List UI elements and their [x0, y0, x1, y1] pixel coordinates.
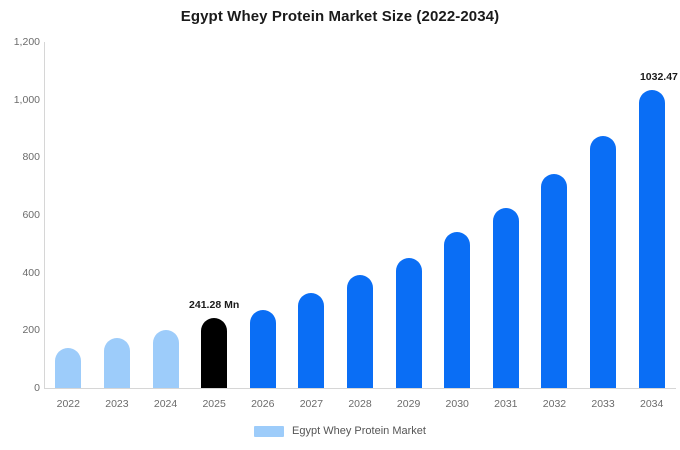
x-axis-tick-label: 2033: [591, 398, 614, 410]
x-axis-tick-labels: 2022202320242025202620272028202920302031…: [44, 398, 676, 416]
y-axis-tick-label: 0: [0, 382, 40, 394]
bar-slot: [287, 42, 336, 388]
x-axis-tick-label: 2029: [397, 398, 420, 410]
bar-2032[interactable]: [541, 174, 567, 388]
x-axis-tick-label: 2022: [57, 398, 80, 410]
bar-2027[interactable]: [298, 293, 324, 388]
bar-slot: [433, 42, 482, 388]
bar-slot: 1032.47 Mn: [627, 42, 676, 388]
y-axis-tick-label: 1,000: [0, 94, 40, 106]
bar-2033[interactable]: [590, 136, 616, 388]
legend-label: Egypt Whey Protein Market: [292, 425, 426, 437]
x-axis-tick-label: 2032: [543, 398, 566, 410]
bar-slot: [530, 42, 579, 388]
bar-2030[interactable]: [444, 232, 470, 388]
chart-legend: Egypt Whey Protein Market: [0, 425, 680, 437]
y-axis-tick-labels: 02004006008001,0001,200: [0, 0, 40, 450]
x-axis-tick-label: 2027: [300, 398, 323, 410]
bar-slot: [482, 42, 531, 388]
bar-2026[interactable]: [250, 310, 276, 388]
y-axis-tick-label: 1,200: [0, 36, 40, 48]
x-axis-tick-label: 2028: [348, 398, 371, 410]
x-axis-tick-label: 2023: [105, 398, 128, 410]
y-axis-tick-label: 400: [0, 267, 40, 279]
bar-slot: [384, 42, 433, 388]
legend-swatch-icon: [254, 426, 284, 437]
x-axis-tick-label: 2024: [154, 398, 177, 410]
bar-slot: [93, 42, 142, 388]
x-axis-tick-label: 2030: [446, 398, 469, 410]
bar-value-label-2025: 241.28 Mn: [189, 299, 239, 311]
bar-2024[interactable]: [153, 330, 179, 388]
x-axis-line: [44, 388, 676, 389]
bar-slot: [44, 42, 93, 388]
bar-2031[interactable]: [493, 208, 519, 388]
x-axis-tick-label: 2034: [640, 398, 663, 410]
bar-slot: [579, 42, 628, 388]
bar-2034[interactable]: [639, 90, 665, 388]
y-axis-tick-label: 600: [0, 209, 40, 221]
chart-title: Egypt Whey Protein Market Size (2022-203…: [0, 8, 680, 25]
y-axis-tick-label: 800: [0, 151, 40, 163]
x-axis-tick-label: 2031: [494, 398, 517, 410]
y-axis-tick-label: 200: [0, 324, 40, 336]
bar-2023[interactable]: [104, 338, 130, 388]
bar-slot: [141, 42, 190, 388]
bar-slot: [336, 42, 385, 388]
chart-container: Egypt Whey Protein Market Size (2022-203…: [0, 0, 680, 450]
bar-2025[interactable]: [201, 318, 227, 388]
bar-slot: 241.28 Mn: [190, 42, 239, 388]
bar-2022[interactable]: [55, 348, 81, 388]
x-axis-tick-label: 2026: [251, 398, 274, 410]
x-axis-tick-label: 2025: [202, 398, 225, 410]
bar-slot: [238, 42, 287, 388]
bar-2029[interactable]: [396, 258, 422, 388]
bar-value-label-2034: 1032.47 Mn: [640, 71, 680, 83]
bars-layer: 241.28 Mn1032.47 Mn: [44, 42, 676, 388]
bar-2028[interactable]: [347, 275, 373, 388]
